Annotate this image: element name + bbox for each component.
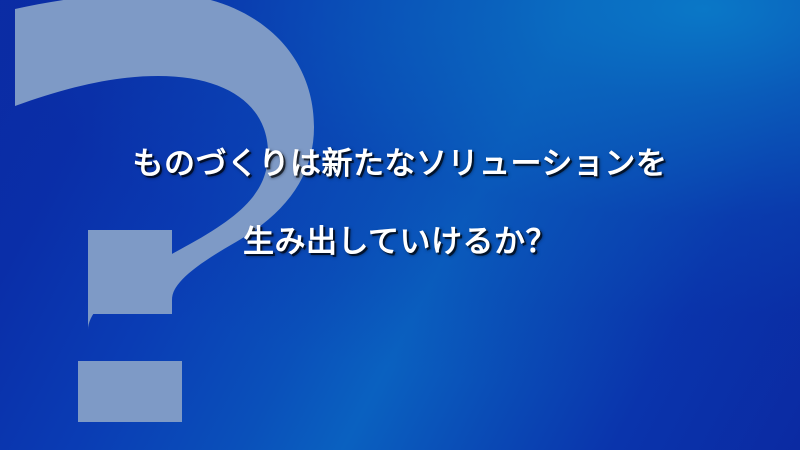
question-mark-dot [78,361,182,422]
slide-canvas: ものづくりは新たなソリューションを 生み出していけるか？ [0,0,800,450]
title-line-2: 生み出していけるか？ [0,226,800,257]
title-line-1: ものづくりは新たなソリューションを [0,148,800,179]
slide-title-block: ものづくりは新たなソリューションを 生み出していけるか？ [0,148,800,257]
